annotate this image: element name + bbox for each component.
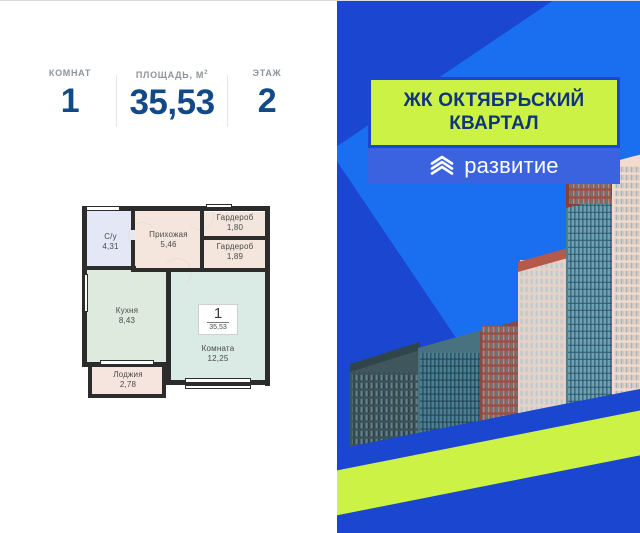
label-loggia-area: 2,78 [92,380,164,390]
window-wardrobe [206,204,232,208]
apartment-badge-rooms: 1 [207,306,229,323]
label-bathroom-name: С/у [86,232,135,242]
stat-rooms: КОМНАТ 1 [24,67,116,133]
label-loggia-name: Лоджия [92,370,164,380]
stat-area-value: 35,53 [129,83,214,123]
label-kitchen-area: 8,43 [86,316,168,326]
wall-loggia-bottom [88,394,166,398]
label-living: Комната 12,25 [170,344,266,364]
floor-plan[interactable]: С/у 4,31 Прихожая 5,46 Гардероб 1,80 Гар… [70,196,292,408]
developer-bar: развитие [368,148,620,184]
label-living-area: 12,25 [170,354,266,364]
listing-card: 250081860 [0,0,640,533]
label-kitchen-name: Кухня [86,306,168,316]
apartment-badge: 1 35,53 [198,304,238,335]
square-meter-superscript: 2 [204,70,208,76]
wall-kitchen-living [166,268,171,384]
summary-stats: КОМНАТ 1 ПЛОЩАДЬ, М2 35,53 ЭТАЖ 2 [24,67,314,133]
stat-rooms-label: КОМНАТ [49,67,91,79]
wall-bath-bottom [86,266,136,270]
label-wardrobe-2: Гардероб 1,89 [204,242,266,262]
label-wardrobe-1: Гардероб 1,80 [204,213,266,233]
chevron-stack-icon [429,153,455,179]
door-arc-living [178,272,206,300]
label-wardrobe-2-area: 1,89 [204,252,266,262]
window-kitchen-bottom [100,360,154,365]
window-living-bottom [185,378,251,383]
stat-rooms-value: 1 [61,81,79,121]
stat-floor-label: ЭТАЖ [253,67,282,79]
label-loggia: Лоджия 2,78 [92,370,164,390]
label-bathroom: С/у 4,31 [86,232,135,252]
wall-hall-bottom [134,268,268,272]
label-wardrobe-1-name: Гардероб [204,213,266,223]
brand-plate: ЖК ОКТЯБРЬСКИЙ КВАРТАЛ развитие [368,77,620,184]
label-bathroom-area: 4,31 [86,242,135,252]
stat-floor: ЭТАЖ 2 [228,67,306,133]
label-hallway: Прихожая 5,46 [135,230,202,250]
label-wardrobe-1-area: 1,80 [204,223,266,233]
info-panel-footer [0,457,337,533]
label-kitchen: Кухня 8,43 [86,306,168,326]
wall-wardrobe-split [200,236,268,240]
stat-area: ПЛОЩАДЬ, М2 35,53 [117,67,227,133]
label-hallway-area: 5,46 [135,240,202,250]
window-living-balcony [185,385,251,389]
developer-name: развитие [464,154,559,178]
apartment-badge-area: 35,53 [199,324,237,332]
label-wardrobe-2-name: Гардероб [204,242,266,252]
window-bathroom [86,206,120,211]
door-arc-kitchen [130,272,158,300]
label-hallway-name: Прихожая [135,230,202,240]
complex-title: ЖК ОКТЯБРЬСКИЙ КВАРТАЛ [368,77,620,148]
stat-floor-value: 2 [258,81,276,121]
wall-bath-right-top [131,208,135,230]
stat-area-label: ПЛОЩАДЬ, М2 [136,67,208,81]
label-living-name: Комната [170,344,266,354]
